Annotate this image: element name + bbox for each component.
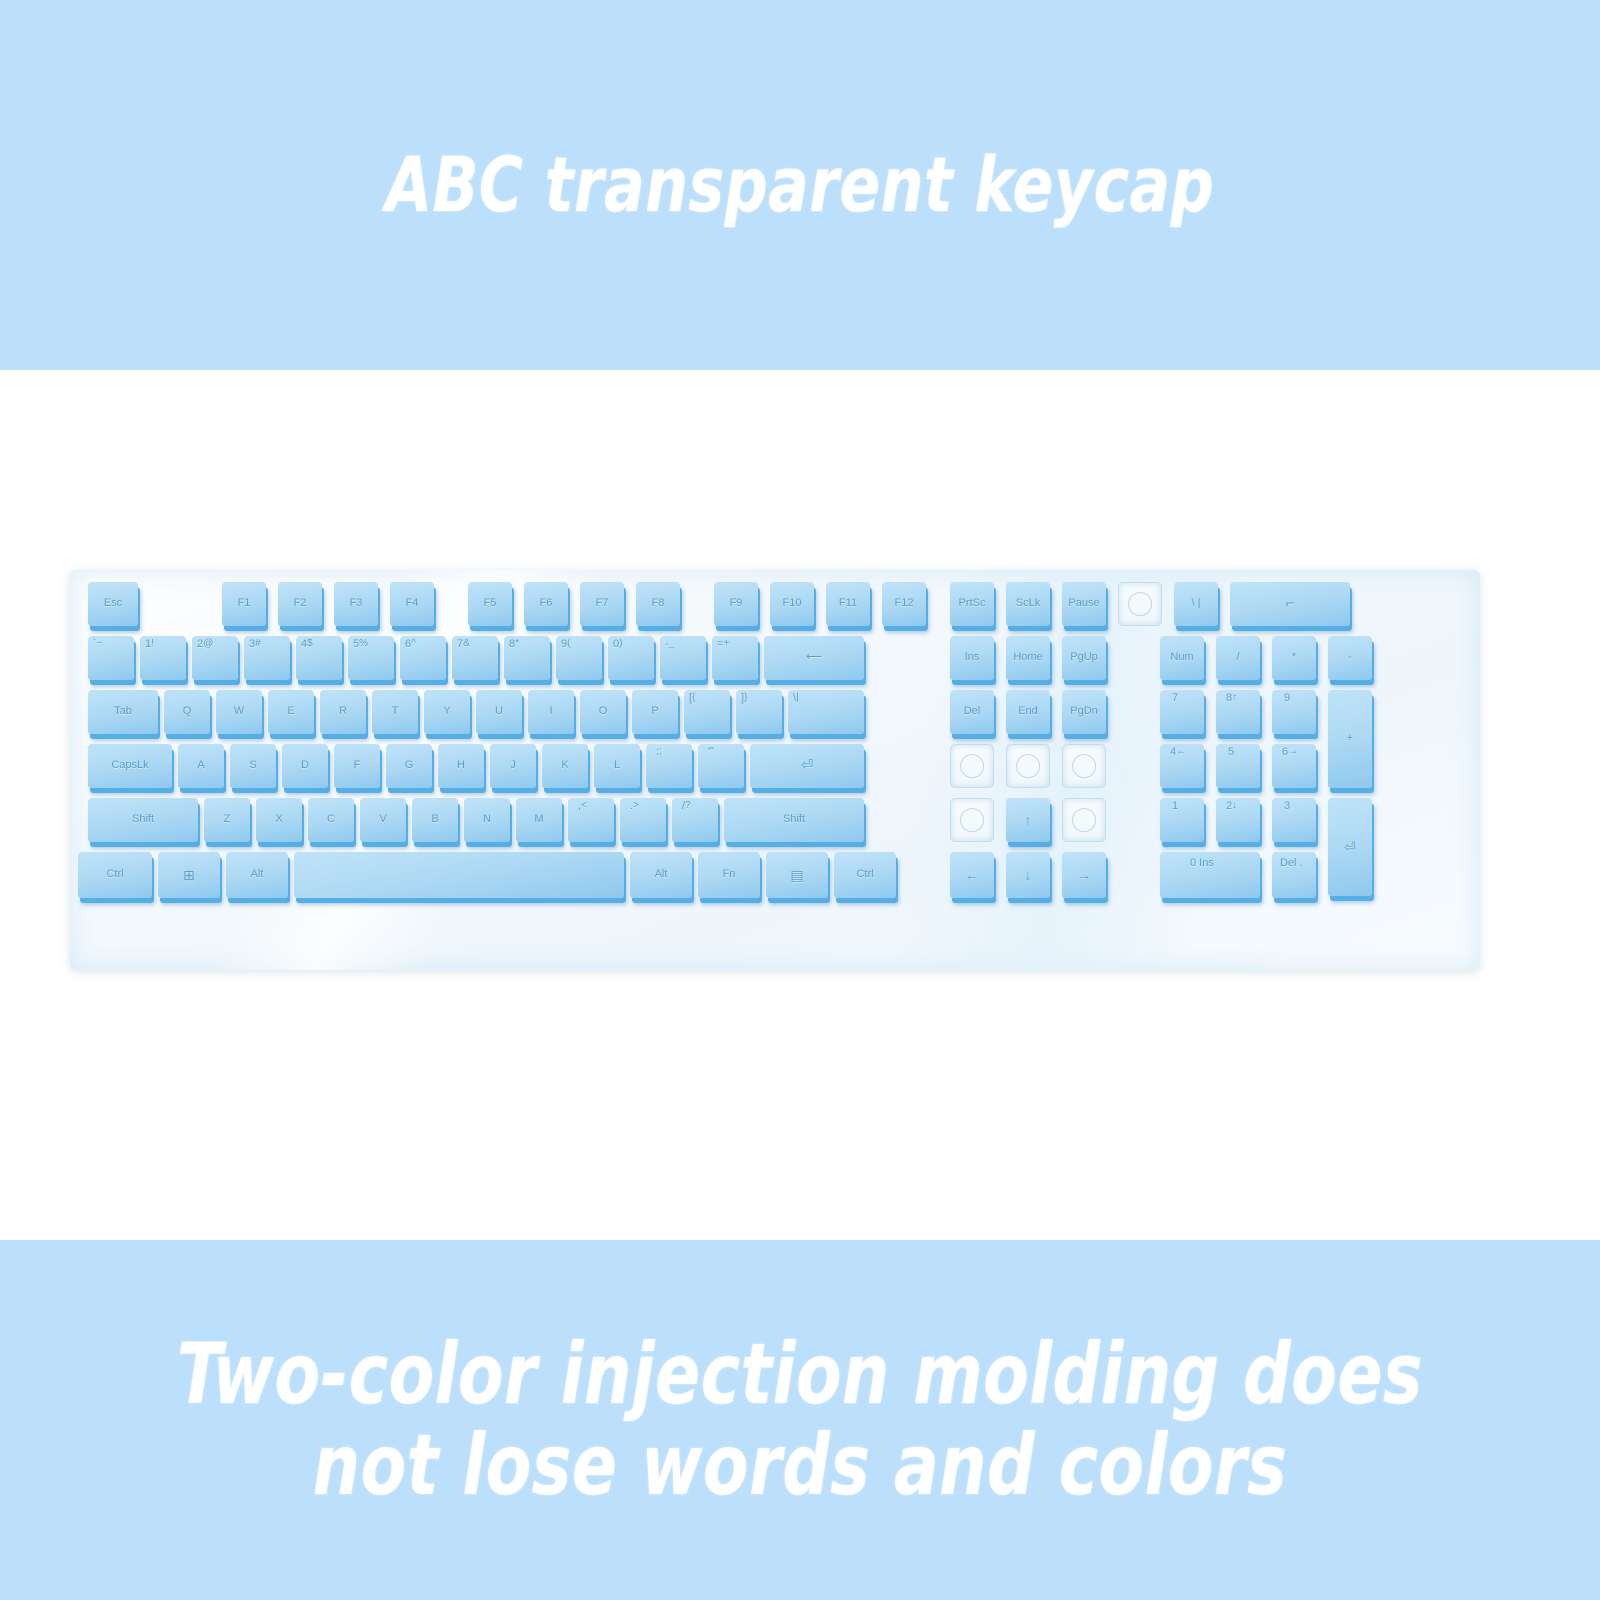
key-numpad-dot[interactable]: Del . bbox=[1272, 852, 1316, 898]
key-bracket-right[interactable]: ]} bbox=[736, 690, 782, 734]
key-delete[interactable]: Del bbox=[950, 690, 994, 734]
key-y[interactable]: Y bbox=[424, 690, 470, 734]
key-2[interactable]: 2@ bbox=[192, 636, 238, 680]
key-b[interactable]: B bbox=[412, 798, 458, 842]
key-shift-left[interactable]: Shift bbox=[88, 798, 198, 842]
empty-socket-nav-1 bbox=[950, 744, 994, 788]
key-7[interactable]: 7& bbox=[452, 636, 498, 680]
key-f12[interactable]: F12 bbox=[882, 582, 926, 626]
empty-socket-nav-3 bbox=[1062, 744, 1106, 788]
key-f[interactable]: F bbox=[334, 744, 380, 788]
key-enter[interactable]: ⏎ bbox=[750, 744, 864, 788]
key-numpad-9[interactable]: 9 bbox=[1272, 690, 1316, 734]
key-alt-left[interactable]: Alt bbox=[226, 852, 288, 898]
key-u[interactable]: U bbox=[476, 690, 522, 734]
key-e[interactable]: E bbox=[268, 690, 314, 734]
key-page-down[interactable]: PgDn bbox=[1062, 690, 1106, 734]
key-ctrl-right[interactable]: Ctrl bbox=[834, 852, 896, 898]
key-n[interactable]: N bbox=[464, 798, 510, 842]
key-t[interactable]: T bbox=[372, 690, 418, 734]
key-scroll-lock[interactable]: ScLk bbox=[1006, 582, 1050, 626]
key-bracket-left[interactable]: [{ bbox=[684, 690, 730, 734]
key-5[interactable]: 5% bbox=[348, 636, 394, 680]
key-windows[interactable]: ⊞ bbox=[158, 852, 220, 898]
empty-socket-arrow-right bbox=[1062, 798, 1106, 842]
key-i[interactable]: I bbox=[528, 690, 574, 734]
key-r[interactable]: R bbox=[320, 690, 366, 734]
key-alt-right[interactable]: Alt bbox=[630, 852, 692, 898]
key-menu[interactable]: ▤ bbox=[766, 852, 828, 898]
key-numpad-7[interactable]: 7 bbox=[1160, 690, 1204, 734]
key-c[interactable]: C bbox=[308, 798, 354, 842]
bottom-banner-line2: not lose words and colors bbox=[177, 1420, 1423, 1511]
key-w[interactable]: W bbox=[216, 690, 262, 734]
key-h[interactable]: H bbox=[438, 744, 484, 788]
key-x[interactable]: X bbox=[256, 798, 302, 842]
key-arrow-left[interactable]: ← bbox=[950, 852, 994, 898]
key-numpad-enter[interactable]: ⏎ bbox=[1328, 798, 1372, 896]
key-4[interactable]: 4$ bbox=[296, 636, 342, 680]
key-comma[interactable]: ,< bbox=[568, 798, 614, 842]
key-d[interactable]: D bbox=[282, 744, 328, 788]
bottom-banner-headline: Two-color injection molding does not los… bbox=[177, 1329, 1423, 1510]
key-o[interactable]: O bbox=[580, 690, 626, 734]
key-extra-backslash[interactable]: \ | bbox=[1174, 582, 1218, 626]
key-8[interactable]: 8* bbox=[504, 636, 550, 680]
key-6[interactable]: 6^ bbox=[400, 636, 446, 680]
product-photo: Esc F1 F2 F3 F4 F5 F6 F7 F8 F9 F10 F11 F… bbox=[0, 370, 1600, 1240]
key-period[interactable]: .> bbox=[620, 798, 666, 842]
key-numpad-0[interactable]: 0 Ins bbox=[1160, 852, 1260, 898]
key-numpad-8[interactable]: 8↑ bbox=[1216, 690, 1260, 734]
key-f6[interactable]: F6 bbox=[524, 582, 568, 626]
key-esc[interactable]: Esc bbox=[88, 582, 138, 626]
key-j[interactable]: J bbox=[490, 744, 536, 788]
key-l[interactable]: L bbox=[594, 744, 640, 788]
bottom-banner-line1: Two-color injection molding does bbox=[177, 1329, 1423, 1420]
key-numpad-divide[interactable]: / bbox=[1216, 636, 1260, 680]
key-print-screen[interactable]: PrtSc bbox=[950, 582, 994, 626]
key-shift-right[interactable]: Shift bbox=[724, 798, 864, 842]
key-a[interactable]: A bbox=[178, 744, 224, 788]
key-f8[interactable]: F8 bbox=[636, 582, 680, 626]
key-numlock[interactable]: Num bbox=[1160, 636, 1204, 680]
empty-socket-arrow-left bbox=[950, 798, 994, 842]
key-f11[interactable]: F11 bbox=[826, 582, 870, 626]
key-equals[interactable]: =+ bbox=[712, 636, 758, 680]
key-pause[interactable]: Pause bbox=[1062, 582, 1106, 626]
key-f7[interactable]: F7 bbox=[580, 582, 624, 626]
key-p[interactable]: P bbox=[632, 690, 678, 734]
key-numpad-minus[interactable]: - bbox=[1328, 636, 1372, 680]
key-f9[interactable]: F9 bbox=[714, 582, 758, 626]
key-m[interactable]: M bbox=[516, 798, 562, 842]
key-numpad-3[interactable]: 3 bbox=[1272, 798, 1316, 842]
key-fn[interactable]: Fn bbox=[698, 852, 760, 898]
key-g[interactable]: G bbox=[386, 744, 432, 788]
key-semicolon[interactable]: :; bbox=[646, 744, 692, 788]
key-numpad-multiply[interactable]: * bbox=[1272, 636, 1316, 680]
key-home[interactable]: Home bbox=[1006, 636, 1050, 680]
key-numpad-6[interactable]: 6→ bbox=[1272, 744, 1316, 788]
key-3[interactable]: 3# bbox=[244, 636, 290, 680]
key-f5[interactable]: F5 bbox=[468, 582, 512, 626]
key-v[interactable]: V bbox=[360, 798, 406, 842]
key-backslash[interactable]: \| bbox=[788, 690, 864, 734]
key-z[interactable]: Z bbox=[204, 798, 250, 842]
key-numpad-5[interactable]: 5 bbox=[1216, 744, 1260, 788]
key-s[interactable]: S bbox=[230, 744, 276, 788]
key-tab[interactable]: Tab bbox=[88, 690, 158, 734]
empty-socket-nav-2 bbox=[1006, 744, 1050, 788]
key-f3[interactable]: F3 bbox=[334, 582, 378, 626]
key-numpad-2[interactable]: 2↓ bbox=[1216, 798, 1260, 842]
key-numpad-1[interactable]: 1 bbox=[1160, 798, 1204, 842]
key-end[interactable]: End bbox=[1006, 690, 1050, 734]
key-backspace[interactable]: ⟵ bbox=[764, 636, 864, 680]
key-numpad-4[interactable]: 4← bbox=[1160, 744, 1204, 788]
key-1[interactable]: 1! bbox=[140, 636, 186, 680]
keycap-tray: Esc F1 F2 F3 F4 F5 F6 F7 F8 F9 F10 F11 F… bbox=[70, 570, 1480, 970]
key-space[interactable] bbox=[294, 852, 624, 898]
key-f2[interactable]: F2 bbox=[278, 582, 322, 626]
key-apostrophe[interactable]: '" bbox=[698, 744, 744, 788]
key-k[interactable]: K bbox=[542, 744, 588, 788]
key-extra-iso[interactable]: ⌐ bbox=[1230, 582, 1350, 626]
key-0[interactable]: 0) bbox=[608, 636, 654, 680]
top-banner: ABC transparent keycap bbox=[0, 0, 1600, 370]
key-numpad-plus[interactable]: + bbox=[1328, 690, 1372, 788]
key-9[interactable]: 9( bbox=[556, 636, 602, 680]
bottom-banner: Two-color injection molding does not los… bbox=[0, 1240, 1600, 1600]
key-insert[interactable]: Ins bbox=[950, 636, 994, 680]
key-page-up[interactable]: PgUp bbox=[1062, 636, 1106, 680]
key-backtick[interactable]: `~ bbox=[88, 636, 134, 680]
key-f4[interactable]: F4 bbox=[390, 582, 434, 626]
key-minus[interactable]: -_ bbox=[660, 636, 706, 680]
key-q[interactable]: Q bbox=[164, 690, 210, 734]
empty-socket-fn bbox=[1118, 582, 1162, 626]
key-f1[interactable]: F1 bbox=[222, 582, 266, 626]
key-arrow-right[interactable]: → bbox=[1062, 852, 1106, 898]
key-arrow-up[interactable]: ↑ bbox=[1006, 798, 1050, 842]
key-ctrl-left[interactable]: Ctrl bbox=[78, 852, 152, 898]
key-arrow-down[interactable]: ↓ bbox=[1006, 852, 1050, 898]
top-banner-headline: ABC transparent keycap bbox=[386, 144, 1215, 226]
key-capslock[interactable]: CapsLk bbox=[88, 744, 172, 788]
key-slash[interactable]: /? bbox=[672, 798, 718, 842]
key-f10[interactable]: F10 bbox=[770, 582, 814, 626]
